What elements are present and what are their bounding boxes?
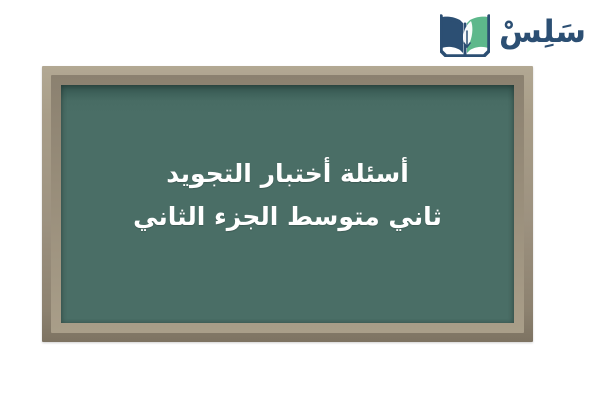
brand-header: سَلِسْ bbox=[440, 6, 586, 62]
blackboard-bevel: أسئلة أختبار التجويد ثاني متوسط الجزء ال… bbox=[51, 75, 524, 333]
brand-logo bbox=[440, 11, 490, 57]
blackboard-line-2: ثاني متوسط الجزء الثاني bbox=[133, 195, 442, 238]
blackboard-text: أسئلة أختبار التجويد ثاني متوسط الجزء ال… bbox=[115, 152, 460, 238]
blackboard-frame: أسئلة أختبار التجويد ثاني متوسط الجزء ال… bbox=[42, 66, 533, 342]
brand-name: سَلِسْ bbox=[499, 17, 586, 51]
open-book-quill-icon bbox=[440, 11, 490, 57]
blackboard-line-1: أسئلة أختبار التجويد bbox=[133, 152, 442, 195]
blackboard-surface: أسئلة أختبار التجويد ثاني متوسط الجزء ال… bbox=[61, 85, 514, 323]
